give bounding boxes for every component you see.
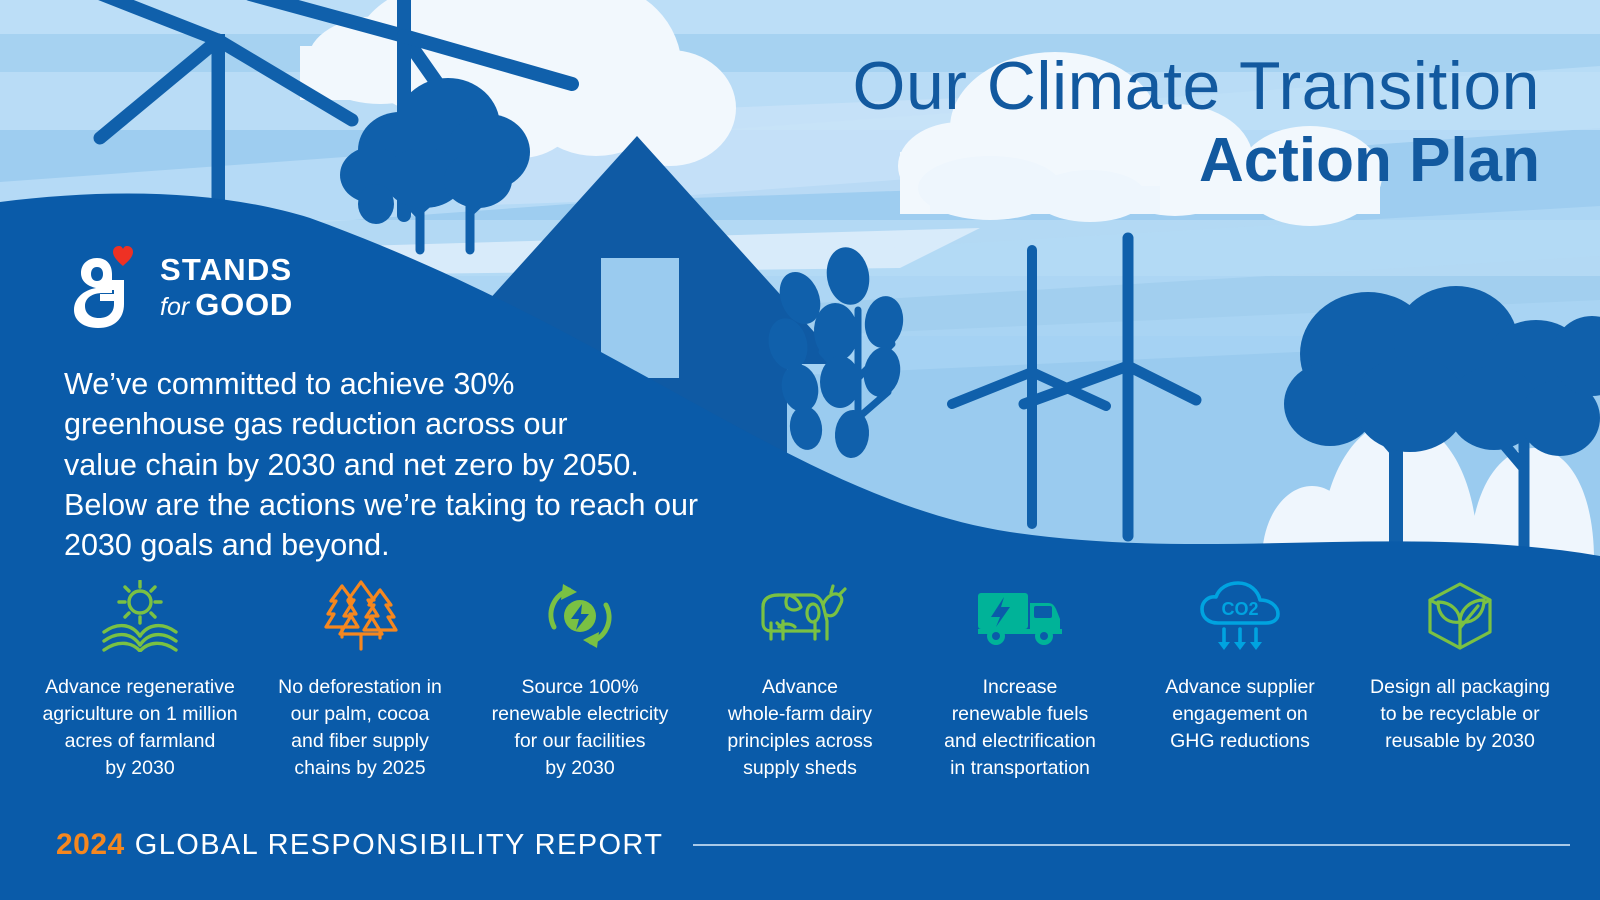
co2-cloud-down-arrows-icon: CO2 — [1196, 581, 1284, 651]
sun-over-field-icon — [98, 580, 182, 652]
pillar-icon-wrapper — [98, 580, 182, 652]
footer: 2024 GLOBAL RESPONSIBILITY REPORT — [56, 828, 1580, 862]
intro-paragraph: We’ve committed to achieve 30% greenhous… — [64, 364, 824, 565]
footer-divider-line — [693, 844, 1570, 846]
electric-truck-icon — [974, 585, 1066, 647]
title-line-2: Action Plan — [853, 130, 1540, 192]
heart-icon — [113, 246, 133, 266]
pillars-row: Advance regenerative agriculture on 1 mi… — [30, 580, 1570, 782]
general-mills-g-heart-icon — [66, 244, 146, 330]
dairy-cow-icon — [753, 583, 847, 649]
page-title: Our Climate Transition Action Plan — [853, 52, 1540, 192]
pillar-supplier-ghg: CO2 Advance supplier engagement on GHG r… — [1130, 580, 1350, 782]
pillar-caption: Source 100% renewable electricity for ou… — [486, 674, 675, 782]
pine-trees-icon — [318, 580, 402, 652]
wind-turbine-left-mast — [212, 34, 225, 220]
pillar-caption: Advance whole-farm dairy principles acro… — [721, 674, 878, 782]
pillar-packaging: Design all packaging to be recyclable or… — [1350, 580, 1570, 782]
logo-stands-text: STANDS — [160, 254, 293, 285]
pillar-regenerative-agriculture: Advance regenerative agriculture on 1 mi… — [30, 580, 250, 782]
pillar-icon-wrapper — [318, 580, 402, 652]
pillar-renewable-fuels-transport: Increase renewable fuels and electrifica… — [910, 580, 1130, 782]
logo-for-text: for — [160, 295, 189, 320]
pillar-icon-wrapper — [753, 580, 847, 652]
package-with-leaves-icon — [1420, 580, 1500, 652]
logo-good-text: GOOD — [195, 289, 293, 320]
pillar-icon-wrapper — [541, 580, 619, 652]
pillar-icon-wrapper — [1420, 580, 1500, 652]
pillar-renewable-electricity: Source 100% renewable electricity for ou… — [470, 580, 690, 782]
recycle-energy-bolt-icon — [541, 580, 619, 652]
co2-label: CO2 — [1221, 599, 1258, 619]
pillar-caption: Advance regenerative agriculture on 1 mi… — [36, 674, 243, 782]
pillar-no-deforestation: No deforestation in our palm, cocoa and … — [250, 580, 470, 782]
pillar-caption: Increase renewable fuels and electrifica… — [938, 674, 1102, 782]
pillar-caption: Design all packaging to be recyclable or… — [1364, 674, 1556, 755]
pillar-icon-wrapper: CO2 — [1196, 580, 1284, 652]
stands-for-good-logo: STANDS for GOOD — [66, 244, 293, 330]
pillar-whole-farm-dairy: Advance whole-farm dairy principles acro… — [690, 580, 910, 782]
pillar-caption: No deforestation in our palm, cocoa and … — [272, 674, 448, 782]
sky-band-1 — [0, 0, 1600, 34]
pillar-icon-wrapper — [974, 580, 1066, 652]
infographic-canvas: Our Climate Transition Action Plan STAND… — [0, 0, 1600, 900]
footer-report-name: GLOBAL RESPONSIBILITY REPORT — [135, 829, 664, 862]
title-line-1: Our Climate Transition — [853, 52, 1540, 120]
pillar-caption: Advance supplier engagement on GHG reduc… — [1159, 674, 1321, 755]
footer-year: 2024 — [56, 828, 125, 862]
